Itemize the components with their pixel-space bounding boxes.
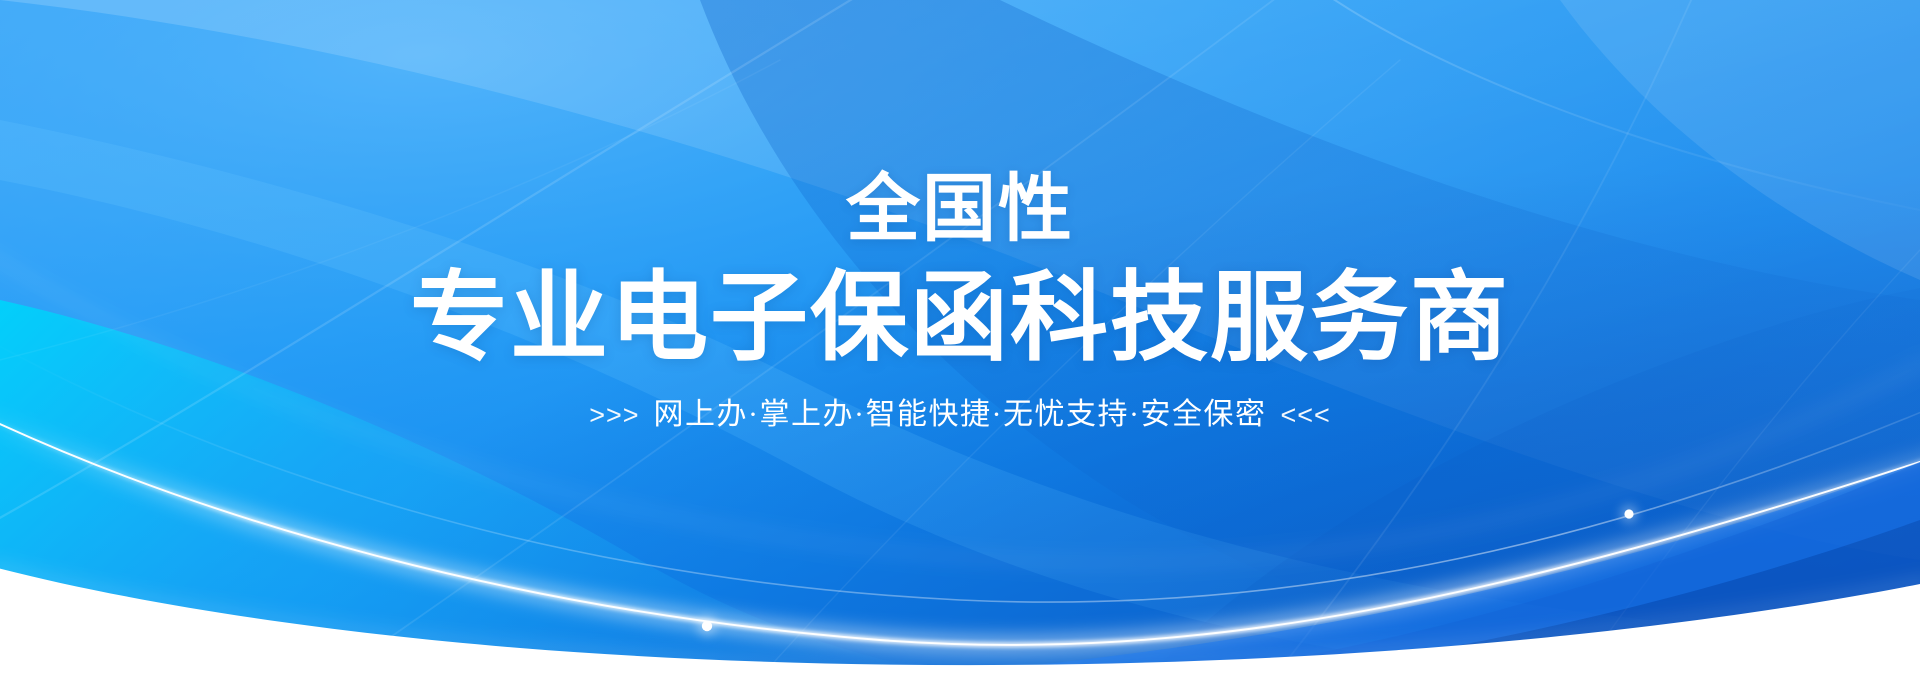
promo-banner: 全国性 专业电子保函科技服务商 >>> 网上办·掌上办·智能快捷·无忧支持·安全…: [0, 0, 1920, 696]
banner-background-artwork: [0, 0, 1920, 696]
swoosh-dot: [702, 621, 712, 631]
swoosh-dot: [1624, 509, 1633, 518]
